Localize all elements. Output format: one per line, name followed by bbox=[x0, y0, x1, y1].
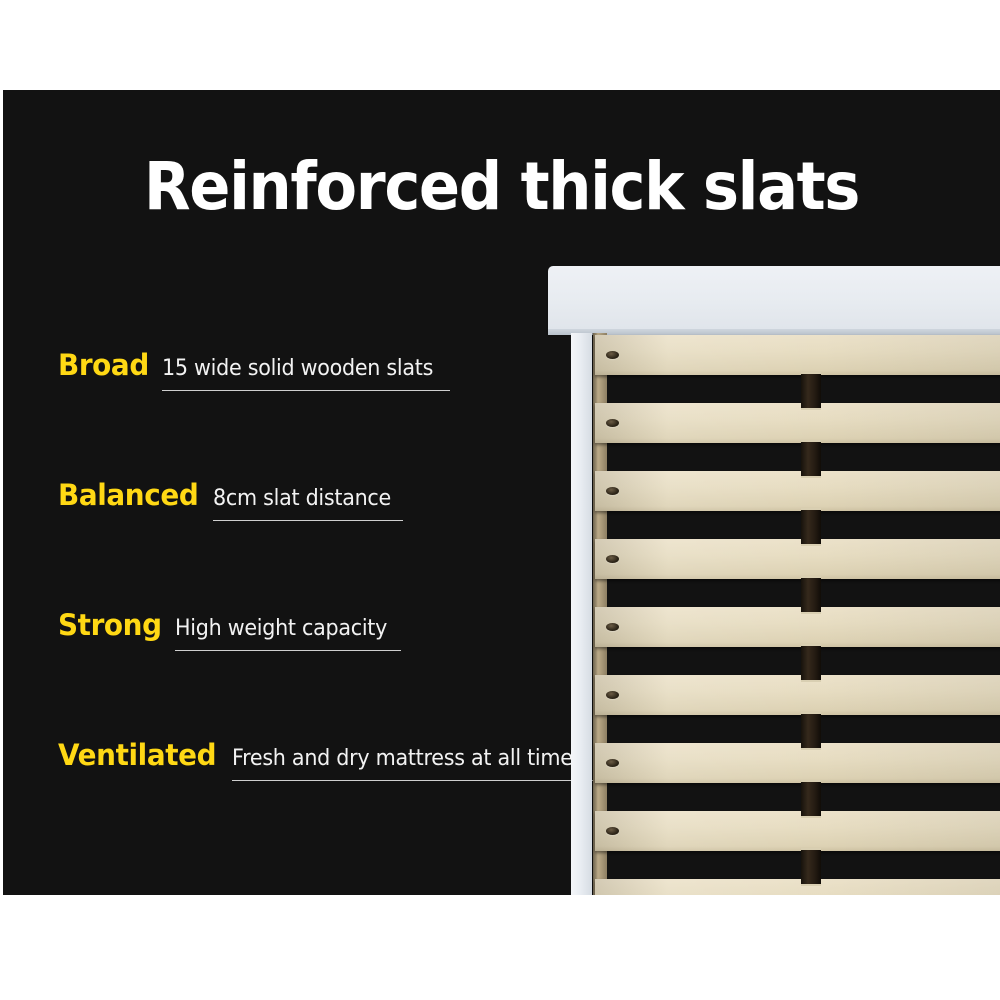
slat-connector-strap bbox=[801, 440, 821, 478]
feature-desc-underline-strong: High weight capacity bbox=[175, 616, 401, 651]
black-content-panel: Reinforced thick slats Broad 15 wide sol… bbox=[3, 90, 1000, 895]
feature-row-balanced: Balanced 8cm slat distance bbox=[58, 478, 578, 608]
feature-desc-underline-broad: 15 wide solid wooden slats bbox=[162, 356, 450, 391]
feature-row-ventilated: Ventilated Fresh and dry mattress at all… bbox=[58, 738, 578, 868]
wooden-slat bbox=[595, 539, 1000, 579]
slat-screw-icon bbox=[606, 691, 619, 699]
feature-label-balanced: Balanced bbox=[58, 478, 198, 512]
slat-connector-strap bbox=[801, 712, 821, 750]
slat-connector-strap bbox=[801, 372, 821, 410]
slat-connector-strap bbox=[801, 848, 821, 886]
feature-row-strong: Strong High weight capacity bbox=[58, 608, 578, 738]
wooden-slat bbox=[595, 675, 1000, 715]
feature-label-broad: Broad bbox=[58, 348, 149, 382]
infographic-canvas: Reinforced thick slats Broad 15 wide sol… bbox=[0, 0, 1000, 1000]
page-title: Reinforced thick slats bbox=[43, 148, 960, 225]
slat-connector-strap bbox=[801, 576, 821, 614]
feature-label-ventilated: Ventilated bbox=[58, 738, 216, 772]
wooden-slat bbox=[595, 471, 1000, 511]
slat-screw-icon bbox=[606, 419, 619, 427]
slat-screw-icon bbox=[606, 351, 619, 359]
wooden-slat bbox=[595, 335, 1000, 375]
feature-desc-balanced: 8cm slat distance bbox=[213, 486, 391, 511]
wooden-slats-group bbox=[545, 256, 1000, 895]
feature-list: Broad 15 wide solid wooden slats Balance… bbox=[58, 348, 578, 868]
product-photo bbox=[545, 256, 1000, 895]
slat-connector-strap bbox=[801, 780, 821, 818]
slat-screw-icon bbox=[606, 827, 619, 835]
wooden-slat bbox=[595, 743, 1000, 783]
wooden-slat bbox=[595, 879, 1000, 895]
wooden-slat bbox=[595, 607, 1000, 647]
feature-desc-broad: 15 wide solid wooden slats bbox=[162, 356, 433, 381]
feature-desc-ventilated: Fresh and dry mattress at all times bbox=[232, 746, 583, 771]
feature-desc-strong: High weight capacity bbox=[175, 616, 387, 641]
slat-connector-strap bbox=[801, 644, 821, 682]
slat-screw-icon bbox=[606, 759, 619, 767]
slat-screw-icon bbox=[606, 487, 619, 495]
wooden-slat bbox=[595, 403, 1000, 443]
feature-desc-underline-balanced: 8cm slat distance bbox=[213, 486, 402, 521]
wooden-slat bbox=[595, 811, 1000, 851]
feature-row-broad: Broad 15 wide solid wooden slats bbox=[58, 348, 578, 478]
feature-label-strong: Strong bbox=[58, 608, 162, 642]
slat-screw-icon bbox=[606, 555, 619, 563]
slat-connector-strap bbox=[801, 508, 821, 546]
slat-screw-icon bbox=[606, 623, 619, 631]
